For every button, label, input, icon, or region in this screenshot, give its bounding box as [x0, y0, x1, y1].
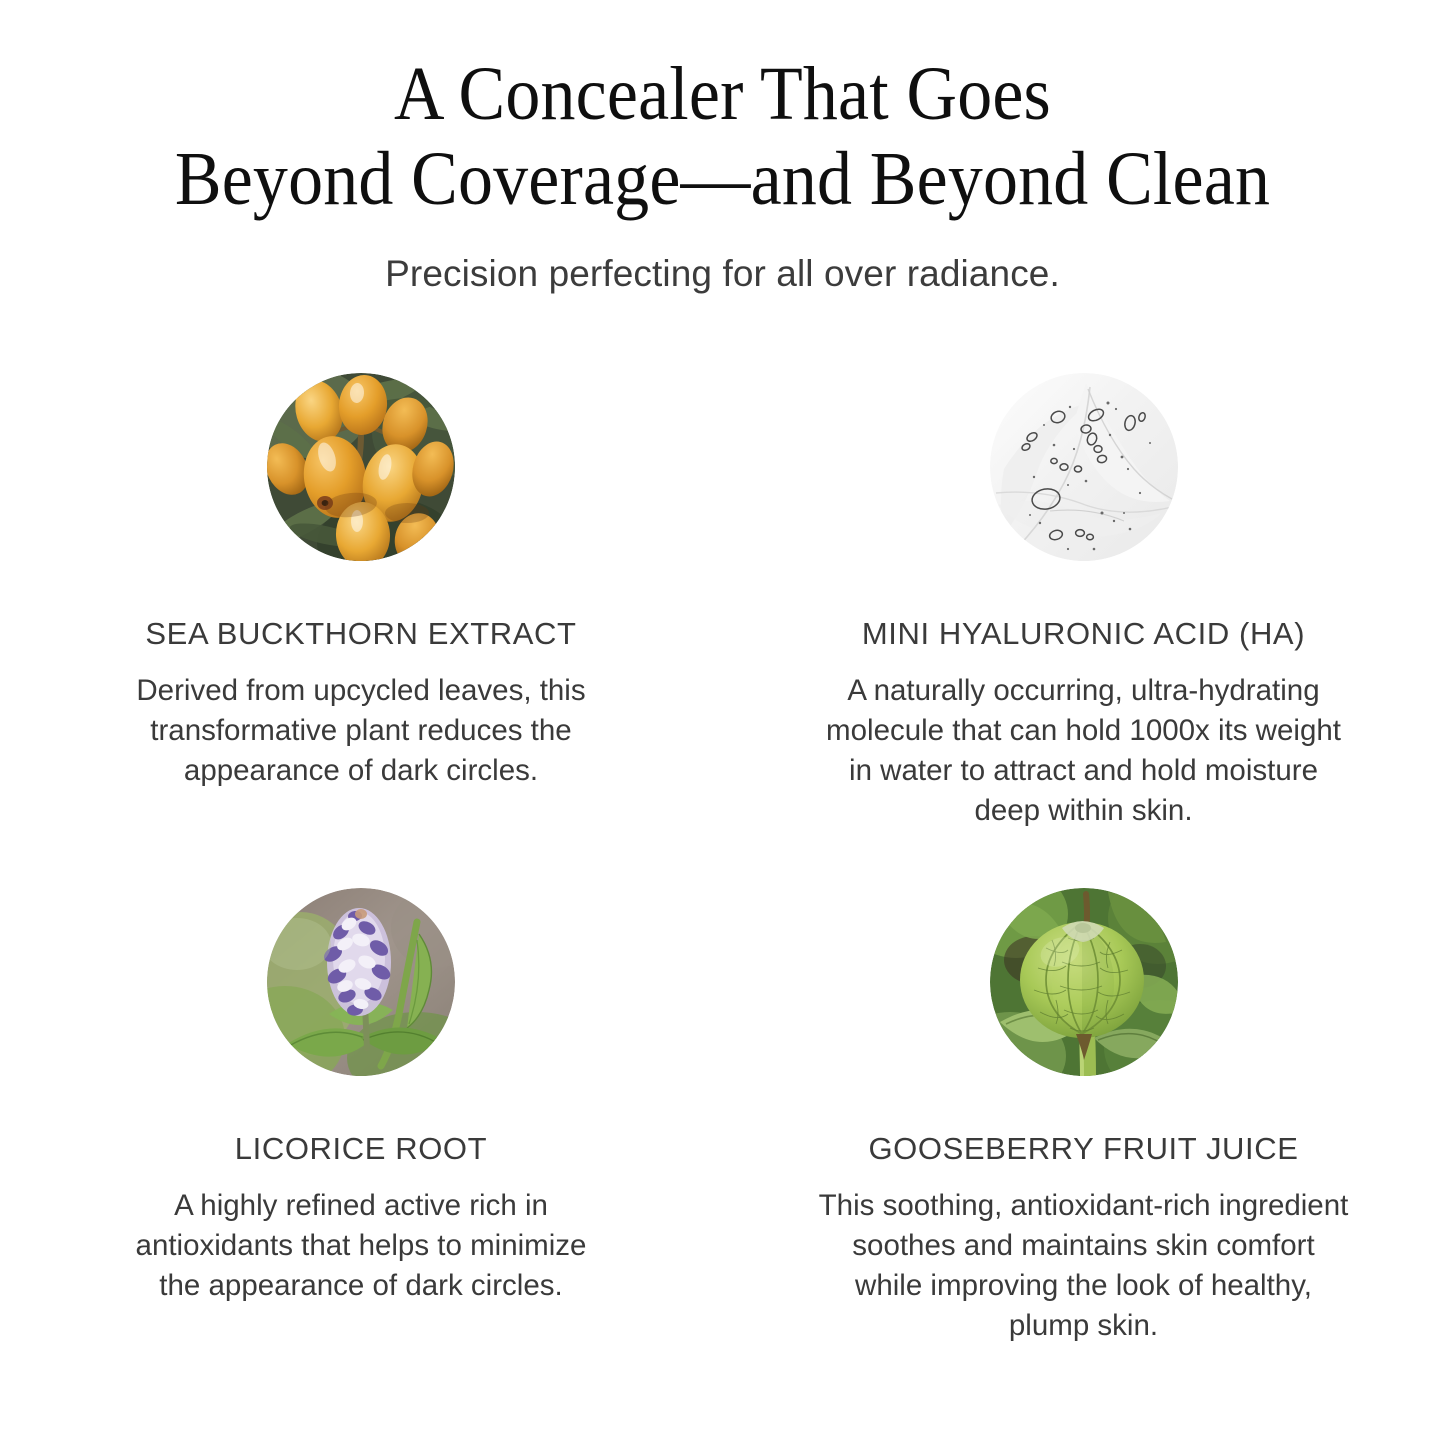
- sea-buckthorn-berries-photo: [267, 373, 455, 561]
- ingredient-title: GOOSEBERRY FRUIT JUICE: [868, 1133, 1298, 1164]
- description-line: molecule that can hold 1000x its weight: [826, 711, 1341, 751]
- page-title-line-2: Beyond Coverage—and Beyond Clean: [58, 137, 1387, 222]
- description-line: in water to attract and hold moisture: [826, 751, 1341, 791]
- ingredient-card-sea-buckthorn: SEA BUCKTHORN EXTRACT Derived from upcyc…: [0, 355, 722, 870]
- ingredient-infographic-page: A Concealer That Goes Beyond Coverage—an…: [0, 0, 1445, 1445]
- page-title: A Concealer That Goes Beyond Coverage—an…: [58, 52, 1387, 222]
- description-line: soothes and maintains skin comfort: [819, 1226, 1349, 1266]
- ingredient-title: LICORICE ROOT: [235, 1133, 487, 1164]
- description-line: while improving the look of healthy,: [819, 1266, 1349, 1306]
- page-title-line-1: A Concealer That Goes: [58, 52, 1387, 137]
- description-line: A naturally occurring, ultra-hydrating: [826, 671, 1341, 711]
- description-line: A highly refined active rich in: [136, 1186, 587, 1226]
- description-line: appearance of dark circles.: [136, 751, 585, 791]
- ingredient-title: SEA BUCKTHORN EXTRACT: [145, 618, 576, 649]
- header: A Concealer That Goes Beyond Coverage—an…: [0, 52, 1445, 297]
- ingredient-card-hyaluronic-acid: MINI HYALURONIC ACID (HA) A naturally oc…: [722, 355, 1445, 870]
- ingredient-card-licorice-root: LICORICE ROOT A highly refined active ri…: [0, 870, 722, 1385]
- hyaluronic-acid-gel-photo: [990, 373, 1178, 561]
- description-line: This soothing, antioxidant-rich ingredie…: [819, 1186, 1349, 1226]
- ingredient-description: A naturally occurring, ultra-hydrating m…: [826, 671, 1341, 831]
- gooseberry-fruit-photo: [990, 888, 1178, 1076]
- description-line: transformative plant reduces the: [136, 711, 585, 751]
- ingredient-title: MINI HYALURONIC ACID (HA): [862, 618, 1305, 649]
- description-line: antioxidants that helps to minimize: [136, 1226, 587, 1266]
- ingredient-description: A highly refined active rich in antioxid…: [136, 1186, 587, 1306]
- description-line: plump skin.: [819, 1306, 1349, 1346]
- description-line: the appearance of dark circles.: [136, 1266, 587, 1306]
- licorice-root-flower-photo: [267, 888, 455, 1076]
- ingredient-description: This soothing, antioxidant-rich ingredie…: [819, 1186, 1349, 1346]
- description-line: deep within skin.: [826, 791, 1341, 831]
- description-line: Derived from upcycled leaves, this: [136, 671, 585, 711]
- ingredient-grid: SEA BUCKTHORN EXTRACT Derived from upcyc…: [0, 355, 1445, 1385]
- ingredient-card-gooseberry: GOOSEBERRY FRUIT JUICE This soothing, an…: [722, 870, 1445, 1385]
- ingredient-description: Derived from upcycled leaves, this trans…: [136, 671, 585, 791]
- page-subtitle: Precision perfecting for all over radian…: [0, 252, 1445, 296]
